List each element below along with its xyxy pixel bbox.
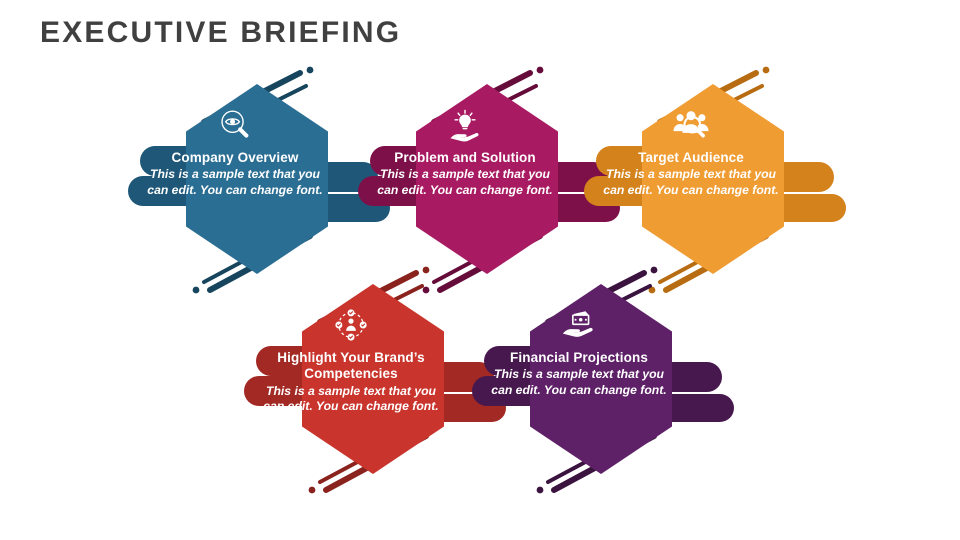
node-title: Highlight Your Brand’s Competencies: [262, 350, 440, 383]
node-content: Target AudienceThis is a sample text tha…: [602, 108, 780, 198]
audience-magnifier-icon: [671, 108, 711, 142]
node-content: Financial ProjectionsThis is a sample te…: [490, 308, 668, 398]
node-content: Company OverviewThis is a sample text th…: [146, 108, 324, 198]
node-title: Company Overview: [146, 150, 324, 166]
page-title: EXECUTIVE BRIEFING: [40, 16, 401, 50]
eye-magnifier-icon: [215, 108, 255, 142]
hand-lightbulb-icon: [445, 108, 485, 142]
node-content: Highlight Your Brand’s CompetenciesThis …: [262, 308, 440, 415]
node-body: This is a sample text that you can edit.…: [376, 167, 554, 198]
person-checkmarks-icon: [331, 308, 371, 342]
node-content: Problem and SolutionThis is a sample tex…: [376, 108, 554, 198]
node-body: This is a sample text that you can edit.…: [602, 167, 780, 198]
node-company-overview[interactable]: Company OverviewThis is a sample text th…: [164, 84, 350, 312]
node-body: This is a sample text that you can edit.…: [146, 167, 324, 198]
node-brand-competencies[interactable]: Highlight Your Brand’s CompetenciesThis …: [280, 284, 466, 512]
node-body: This is a sample text that you can edit.…: [262, 384, 440, 415]
node-title: Financial Projections: [490, 350, 668, 366]
node-body: This is a sample text that you can edit.…: [490, 367, 668, 398]
node-title: Problem and Solution: [376, 150, 554, 166]
node-target-audience[interactable]: Target AudienceThis is a sample text tha…: [620, 84, 806, 312]
node-problem-and-solution[interactable]: Problem and SolutionThis is a sample tex…: [394, 84, 580, 312]
node-title: Target Audience: [602, 150, 780, 166]
node-financial-projections[interactable]: Financial ProjectionsThis is a sample te…: [508, 284, 694, 512]
hand-money-icon: [559, 308, 599, 342]
slide-canvas: EXECUTIVE BRIEFING Company OverviewThis …: [0, 0, 960, 540]
